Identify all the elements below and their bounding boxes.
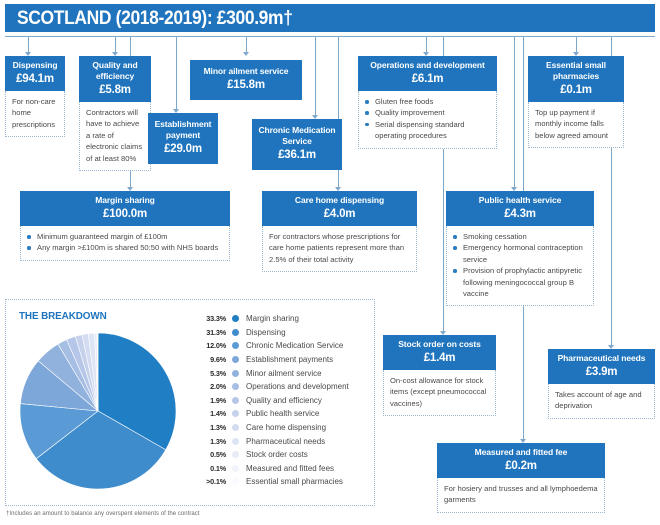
bullet-text: Any margin >£100m is shared 50:50 with N… bbox=[37, 243, 218, 252]
chart-legend: 33.3%Margin sharing31.3%Dispensing12.0%C… bbox=[192, 312, 372, 489]
node-public-health-title: Public health service bbox=[449, 195, 591, 206]
legend-row: 12.0%Chronic Medication Service bbox=[192, 339, 372, 353]
node-stock-order-on-costs[interactable]: Stock order on costs £1.4m On-cost allow… bbox=[383, 335, 496, 416]
node-pharma-needs-title: Pharmaceutical needs bbox=[551, 353, 652, 364]
node-quality-title: Quality and efficiency bbox=[82, 60, 148, 82]
legend-swatch-icon bbox=[232, 342, 239, 349]
node-margin-sharing-header: Margin sharing £100.0m bbox=[20, 191, 230, 226]
node-measured-and-fitted-fee[interactable]: Measured and fitted fee £0.2m For hosier… bbox=[437, 443, 605, 513]
connector-minor-ailment bbox=[246, 36, 247, 53]
legend-label: Establishment payments bbox=[246, 355, 333, 364]
node-care-home-body-text: For contractors whose prescriptions for … bbox=[269, 231, 410, 265]
node-quality-header: Quality and efficiency £5.8m bbox=[79, 56, 151, 102]
node-pharma-needs-body: Takes account of age and deprivation bbox=[548, 384, 655, 419]
list-item: Provision of prophylactic antipyretic fo… bbox=[453, 265, 587, 299]
node-essential-small-title: Essential small pharmacies bbox=[531, 60, 621, 82]
node-establishment-value: £29.0m bbox=[151, 142, 215, 156]
footnote: †Includes an amount to balance any overs… bbox=[6, 511, 200, 517]
node-minor-ailment-service[interactable]: Minor ailment service £15.8m bbox=[190, 60, 302, 100]
node-essential-small-body: Top up payment if monthly income falls b… bbox=[528, 102, 624, 148]
legend-row: 0.5%Stock order costs bbox=[192, 448, 372, 462]
node-operations-development[interactable]: Operations and development £6.1m Gluten … bbox=[358, 56, 497, 149]
node-margin-sharing-bullets: Minimum guaranteed margin of £100m Any m… bbox=[27, 231, 223, 254]
node-minor-ailment-title: Minor ailment service bbox=[193, 66, 299, 77]
node-essential-small-value: £0.1m bbox=[531, 83, 621, 97]
legend-label: Stock order costs bbox=[246, 450, 308, 459]
legend-swatch-icon bbox=[232, 356, 239, 363]
node-operations-title: Operations and development bbox=[361, 60, 494, 71]
bullet-dot-icon bbox=[365, 111, 369, 115]
legend-label: Essential small pharmacies bbox=[246, 477, 343, 486]
node-care-home-value: £4.0m bbox=[265, 207, 414, 221]
node-measured-fitted-body-text: For hosiery and trusses and all lymphoed… bbox=[444, 483, 598, 506]
legend-label: Pharmaceutical needs bbox=[246, 437, 325, 446]
node-dispensing-title: Dispensing bbox=[8, 60, 62, 71]
node-essential-small-header: Essential small pharmacies £0.1m bbox=[528, 56, 624, 102]
legend-label: Operations and development bbox=[246, 382, 349, 391]
list-item: Any margin >£100m is shared 50:50 with N… bbox=[27, 242, 223, 253]
node-stock-order-title: Stock order on costs bbox=[386, 339, 493, 350]
legend-row: 33.3%Margin sharing bbox=[192, 312, 372, 326]
bullet-dot-icon bbox=[27, 235, 31, 239]
legend-row: 1.3%Care home dispensing bbox=[192, 421, 372, 435]
list-item: Quality improvement bbox=[365, 107, 490, 118]
node-stock-order-body: On-cost allowance for stock items (excep… bbox=[383, 370, 496, 416]
node-pharmaceutical-needs[interactable]: Pharmaceutical needs £3.9m Takes account… bbox=[548, 349, 655, 419]
legend-percent: 12.0% bbox=[192, 341, 226, 350]
bullet-text: Minimum guaranteed margin of £100m bbox=[37, 232, 167, 241]
node-dispensing[interactable]: Dispensing £94.1m For non-care home pres… bbox=[5, 56, 65, 137]
legend-percent: 0.1% bbox=[192, 464, 226, 473]
node-operations-body: Gluten free foods Quality improvement Se… bbox=[358, 91, 497, 149]
legend-percent: 1.4% bbox=[192, 409, 226, 418]
legend-row: 9.6%Establishment payments bbox=[192, 353, 372, 367]
legend-label: Quality and efficiency bbox=[246, 396, 322, 405]
node-care-home-body: For contractors whose prescriptions for … bbox=[262, 226, 417, 272]
legend-label: Care home dispensing bbox=[246, 423, 326, 432]
node-chronic-med-header: Chronic Medication Service £36.1m bbox=[252, 119, 342, 170]
connector-spine bbox=[5, 36, 655, 37]
legend-row: 2.0%Operations and development bbox=[192, 380, 372, 394]
legend-percent: 2.0% bbox=[192, 382, 226, 391]
node-quality-value: £5.8m bbox=[82, 83, 148, 97]
list-item: Serial dispensing standard operating pro… bbox=[365, 119, 490, 142]
legend-percent: >0.1% bbox=[192, 477, 226, 486]
node-pharma-needs-value: £3.9m bbox=[551, 365, 652, 379]
legend-swatch-icon bbox=[232, 438, 239, 445]
legend-row: 31.3%Dispensing bbox=[192, 326, 372, 340]
legend-row: >0.1%Essential small pharmacies bbox=[192, 475, 372, 489]
bullet-dot-icon bbox=[453, 246, 457, 250]
bullet-text: Emergency hormonal contraception service bbox=[463, 243, 583, 263]
legend-row: 0.1%Measured and fitted fees bbox=[192, 462, 372, 476]
bullet-text: Provision of prophylactic antipyretic fo… bbox=[463, 266, 582, 298]
node-operations-bullets: Gluten free foods Quality improvement Se… bbox=[365, 96, 490, 142]
node-establishment-title: Establishment payment bbox=[151, 119, 215, 141]
bullet-text: Gluten free foods bbox=[375, 97, 433, 106]
pie-slices bbox=[20, 333, 176, 489]
legend-row: 5.3%Minor ailment service bbox=[192, 366, 372, 380]
node-essential-small-pharmacies[interactable]: Essential small pharmacies £0.1m Top up … bbox=[528, 56, 624, 148]
node-public-health-bullets: Smoking cessation Emergency hormonal con… bbox=[453, 231, 587, 299]
bullet-text: Smoking cessation bbox=[463, 232, 527, 241]
node-essential-small-body-text: Top up payment if monthly income falls b… bbox=[535, 107, 617, 141]
list-item: Minimum guaranteed margin of £100m bbox=[27, 231, 223, 242]
connector-essential-small bbox=[576, 36, 577, 53]
legend-swatch-icon bbox=[232, 383, 239, 390]
page-title-banner: SCOTLAND (2018-2019): £300.9m† bbox=[5, 4, 655, 32]
legend-percent: 31.3% bbox=[192, 328, 226, 337]
legend-percent: 1.3% bbox=[192, 437, 226, 446]
arrow-minor-ailment bbox=[243, 52, 249, 56]
node-dispensing-value: £94.1m bbox=[8, 72, 62, 86]
legend-swatch-icon bbox=[232, 410, 239, 417]
node-public-health-service[interactable]: Public health service £4.3m Smoking cess… bbox=[446, 191, 594, 306]
node-stock-order-body-text: On-cost allowance for stock items (excep… bbox=[390, 375, 489, 409]
connector-chronic-med bbox=[315, 36, 316, 116]
legend-label: Margin sharing bbox=[246, 314, 299, 323]
node-public-health-body: Smoking cessation Emergency hormonal con… bbox=[446, 226, 594, 306]
legend-percent: 5.3% bbox=[192, 369, 226, 378]
legend-swatch-icon bbox=[232, 397, 239, 404]
bullet-text: Serial dispensing standard operating pro… bbox=[375, 120, 465, 140]
connector-public-health bbox=[514, 36, 515, 188]
node-minor-ailment-value: £15.8m bbox=[193, 78, 299, 92]
legend-percent: 0.5% bbox=[192, 450, 226, 459]
bullet-dot-icon bbox=[453, 235, 457, 239]
node-chronic-med-title: Chronic Medication Service bbox=[255, 125, 339, 147]
node-operations-header: Operations and development £6.1m bbox=[358, 56, 497, 91]
node-public-health-header: Public health service £4.3m bbox=[446, 191, 594, 226]
node-quality-efficiency[interactable]: Quality and efficiency £5.8m Contractors… bbox=[79, 56, 151, 171]
bullet-dot-icon bbox=[365, 123, 369, 127]
node-margin-sharing[interactable]: Margin sharing £100.0m Minimum guarantee… bbox=[20, 191, 230, 261]
legend-row: 1.3%Pharmaceutical needs bbox=[192, 434, 372, 448]
legend-label: Minor ailment service bbox=[246, 369, 322, 378]
node-establishment-header: Establishment payment £29.0m bbox=[148, 113, 218, 164]
connector-quality bbox=[115, 36, 116, 53]
list-item: Gluten free foods bbox=[365, 96, 490, 107]
pie-chart bbox=[19, 329, 179, 494]
legend-swatch-icon bbox=[232, 478, 239, 485]
node-dispensing-body: For non-care home prescriptions bbox=[5, 91, 65, 137]
legend-swatch-icon bbox=[232, 451, 239, 458]
node-quality-body-text: Contractors will have to achieve a rate … bbox=[86, 107, 144, 164]
breakdown-panel: THE BREAKDOWN 33.3%Margin sharing31.3%Di… bbox=[5, 299, 375, 506]
node-dispensing-header: Dispensing £94.1m bbox=[5, 56, 65, 91]
node-pharma-needs-body-text: Takes account of age and deprivation bbox=[555, 389, 648, 412]
node-care-home-dispensing[interactable]: Care home dispensing £4.0m For contracto… bbox=[262, 191, 417, 272]
legend-swatch-icon bbox=[232, 465, 239, 472]
infographic-canvas: SCOTLAND (2018-2019): £300.9m† Dispensin… bbox=[0, 0, 660, 525]
node-operations-value: £6.1m bbox=[361, 72, 494, 86]
node-public-health-value: £4.3m bbox=[449, 207, 591, 221]
node-quality-body: Contractors will have to achieve a rate … bbox=[79, 102, 151, 171]
node-measured-fitted-value: £0.2m bbox=[440, 459, 602, 473]
node-measured-fitted-header: Measured and fitted fee £0.2m bbox=[437, 443, 605, 478]
page-title: SCOTLAND (2018-2019): £300.9m† bbox=[17, 8, 293, 30]
breakdown-title: THE BREAKDOWN bbox=[19, 310, 107, 322]
node-measured-fitted-body: For hosiery and trusses and all lymphoed… bbox=[437, 478, 605, 513]
list-item: Emergency hormonal contraception service bbox=[453, 242, 587, 265]
connector-operations bbox=[426, 36, 427, 53]
node-margin-sharing-body: Minimum guaranteed margin of £100m Any m… bbox=[20, 226, 230, 261]
legend-swatch-icon bbox=[232, 315, 239, 322]
legend-swatch-icon bbox=[232, 329, 239, 336]
node-measured-fitted-title: Measured and fitted fee bbox=[440, 447, 602, 458]
bullet-dot-icon bbox=[453, 269, 457, 273]
legend-swatch-icon bbox=[232, 424, 239, 431]
list-item: Smoking cessation bbox=[453, 231, 587, 242]
node-stock-order-value: £1.4m bbox=[386, 351, 493, 365]
legend-label: Measured and fitted fees bbox=[246, 464, 334, 473]
legend-percent: 33.3% bbox=[192, 314, 226, 323]
node-care-home-header: Care home dispensing £4.0m bbox=[262, 191, 417, 226]
node-chronic-med-value: £36.1m bbox=[255, 148, 339, 162]
bullet-dot-icon bbox=[27, 246, 31, 250]
node-margin-sharing-value: £100.0m bbox=[23, 207, 227, 221]
node-establishment-payment[interactable]: Establishment payment £29.0m bbox=[148, 113, 218, 164]
legend-row: 1.4%Public health service bbox=[192, 407, 372, 421]
node-chronic-medication-service[interactable]: Chronic Medication Service £36.1m bbox=[252, 119, 342, 170]
legend-label: Chronic Medication Service bbox=[246, 341, 343, 350]
node-pharma-needs-header: Pharmaceutical needs £3.9m bbox=[548, 349, 655, 384]
legend-label: Dispensing bbox=[246, 328, 286, 337]
node-care-home-title: Care home dispensing bbox=[265, 195, 414, 206]
node-stock-order-header: Stock order on costs £1.4m bbox=[383, 335, 496, 370]
node-dispensing-body-text: For non-care home prescriptions bbox=[12, 96, 58, 130]
node-margin-sharing-title: Margin sharing bbox=[23, 195, 227, 206]
legend-percent: 9.6% bbox=[192, 355, 226, 364]
connector-dispensing bbox=[28, 36, 29, 53]
legend-percent: 1.3% bbox=[192, 423, 226, 432]
node-minor-ailment-header: Minor ailment service £15.8m bbox=[190, 60, 302, 100]
bullet-text: Quality improvement bbox=[375, 108, 445, 117]
legend-row: 1.9%Quality and efficiency bbox=[192, 394, 372, 408]
connector-establishment bbox=[176, 36, 177, 110]
legend-label: Public health service bbox=[246, 409, 319, 418]
legend-swatch-icon bbox=[232, 370, 239, 377]
legend-percent: 1.9% bbox=[192, 396, 226, 405]
bullet-dot-icon bbox=[365, 100, 369, 104]
